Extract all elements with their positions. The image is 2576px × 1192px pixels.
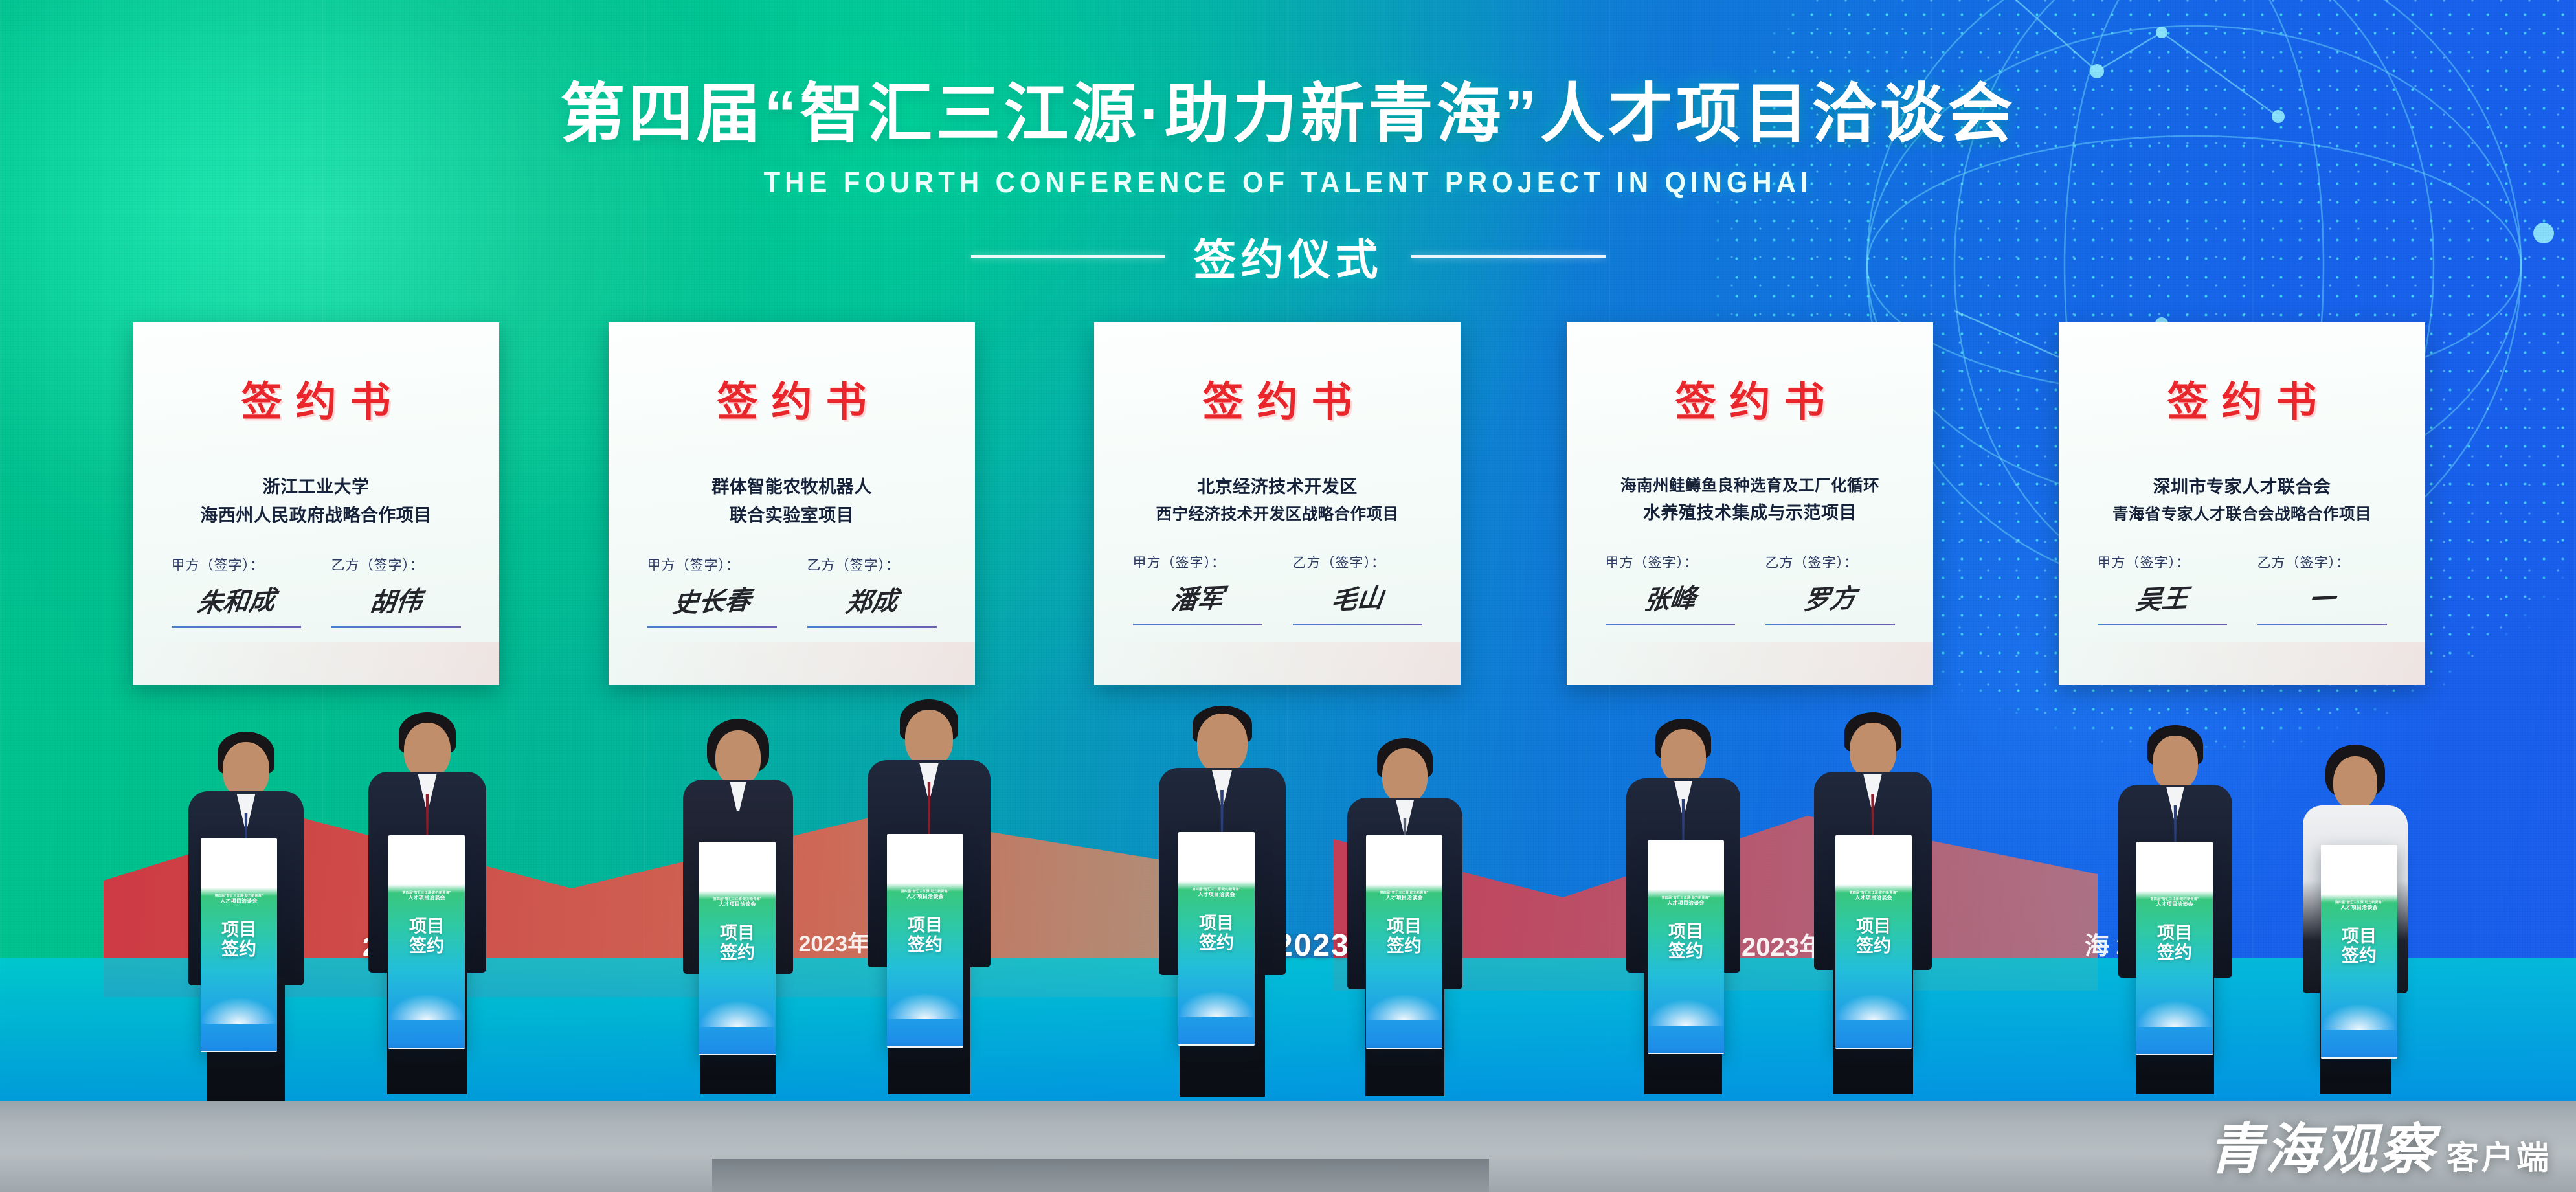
podium-snow-graphic (201, 998, 277, 1024)
podium-brand-tiny: 第四届“智汇三江源·助力新青海” (1648, 896, 1724, 900)
party-b-signature: 一 (2254, 569, 2390, 625)
head (715, 730, 761, 785)
head (223, 742, 269, 798)
party-b-signature: 郑成 (803, 572, 939, 628)
podium-base (2321, 1057, 2397, 1059)
head (1197, 714, 1248, 773)
podium-label-line-1: 项目 (1835, 917, 1912, 936)
photo-stage: 第四届“智汇三江源·助力新青海”人才项目洽谈会 THE FOURTH CONFE… (0, 0, 2576, 1192)
podium-snow-graphic (699, 1001, 776, 1027)
party-a-signature: 朱和成 (168, 572, 304, 628)
board-heading: 签约书 (609, 369, 975, 428)
podium-brand: 第四届“智汇三江源·助力新青海” 人才项目洽谈会 (388, 891, 465, 901)
head (404, 723, 451, 778)
podium-9: 第四届“智汇三江源·助力新青海” 人才项目洽谈会 项目 签约 (2136, 842, 2213, 1055)
podium-label: 项目 签约 (1835, 917, 1912, 956)
podium-snow-graphic (388, 995, 465, 1020)
board-foot (2059, 642, 2425, 685)
head (905, 710, 953, 767)
podium-brand: 第四届“智汇三江源·助力新青海” 人才项目洽谈会 (1178, 888, 1255, 898)
podium-brand-tiny: 第四届“智汇三江源·助力新青海” (2136, 897, 2213, 901)
podium-label: 项目 签约 (699, 923, 776, 962)
board-heading: 签约书 (133, 369, 499, 428)
signature-row: 甲方（签字）： 潘军 乙方（签字）： 毛山 (1094, 552, 1461, 625)
podium-brand-small: 人才项目洽谈会 (1198, 892, 1235, 897)
podium-label-line-2: 签约 (1648, 941, 1724, 961)
board-foot (609, 642, 975, 685)
podium-brand-small: 人才项目洽谈会 (906, 894, 943, 899)
podium-brand: 第四届“智汇三江源·助力新青海” 人才项目洽谈会 (699, 897, 776, 908)
podium-base (1178, 1044, 1255, 1046)
podium-6: 第四届“智汇三江源·助力新青海” 人才项目洽谈会 项目 签约 (1366, 835, 1442, 1049)
signing-board-2: 签约书 群体智能农牧机器人 联合实验室项目 甲方（签字）： 史长春 乙方（签字）… (609, 322, 975, 685)
podium-label-line-1: 项目 (2321, 927, 2397, 946)
party-a-signature: 吴王 (2094, 569, 2230, 625)
party-b-signature: 罗方 (1762, 569, 1898, 625)
podium-label-line-1: 项目 (201, 920, 277, 939)
signing-board-4: 签约书 海南州鲑鳟鱼良种选育及工厂化循环 水养殖技术集成与示范项目 甲方（签字）… (1567, 322, 1933, 685)
party-a-signature: 潘军 (1129, 569, 1265, 625)
board-foot (1567, 642, 1933, 685)
podium-label-line-2: 签约 (1178, 933, 1255, 952)
podium-10: 第四届“智汇三江源·助力新青海” 人才项目洽谈会 项目 签约 (2321, 845, 2397, 1059)
podium-label: 项目 签约 (887, 916, 963, 954)
podium-label: 项目 签约 (1178, 914, 1255, 952)
head (2153, 736, 2198, 790)
watermark-sub: 客户端 (2447, 1141, 2551, 1178)
rule-left (971, 255, 1165, 258)
floor-shadow (712, 1159, 1489, 1192)
podium-base (887, 1046, 963, 1048)
event-title-cn: 第四届“智汇三江源·助力新青海”人才项目洽谈会 (0, 79, 2576, 149)
party-a-column: 甲方（签字）： 张峰 (1606, 552, 1735, 625)
podium-label: 项目 签约 (201, 920, 277, 959)
podium-label-line-2: 签约 (201, 939, 277, 959)
party-a-label: 甲方（签字）： (1606, 552, 1735, 572)
podium-label: 项目 签约 (2136, 923, 2213, 962)
podium-brand-tiny: 第四届“智汇三江源·助力新青海” (388, 891, 465, 895)
board-foot (1094, 642, 1461, 685)
podium-5: 第四届“智汇三江源·助力新青海” 人才项目洽谈会 项目 签约 (1178, 832, 1255, 1046)
podium-brand-small: 人才项目洽谈会 (1855, 895, 1892, 901)
signing-board-1: 签约书 浙江工业大学 海西州人民政府战略合作项目 甲方（签字）： 朱和成 乙方（… (133, 322, 499, 685)
party-a-column: 甲方（签字）： 潘军 (1133, 552, 1262, 625)
podium-label-line-1: 项目 (1366, 917, 1442, 936)
podium-snow-graphic (2321, 1004, 2397, 1030)
podium-3: 第四届“智汇三江源·助力新青海” 人才项目洽谈会 项目 签约 (699, 842, 776, 1055)
podium-label-line-2: 签约 (2321, 946, 2397, 965)
party-b-column: 乙方（签字）： 毛山 (1293, 552, 1422, 625)
party-b-signature: 胡伟 (328, 572, 464, 628)
podium-brand-small: 人才项目洽谈会 (2340, 905, 2377, 910)
podium-base (1648, 1053, 1724, 1054)
party-b-column: 乙方（签字）： 郑成 (807, 555, 937, 628)
podium-snow-graphic (887, 993, 963, 1019)
board-heading: 签约书 (1567, 369, 1933, 428)
podium-brand: 第四届“智汇三江源·助力新青海” 人才项目洽谈会 (1648, 896, 1724, 906)
podium-brand-small: 人才项目洽谈会 (220, 898, 257, 904)
party-a-column: 甲方（签字）： 吴王 (2098, 552, 2227, 625)
podium-base (1835, 1048, 1912, 1049)
podium-base (1366, 1048, 1442, 1049)
signature-row: 甲方（签字）： 朱和成 乙方（签字）： 胡伟 (133, 555, 499, 628)
party-b-column: 乙方（签字）： 罗方 (1765, 552, 1895, 625)
board-project-line-1: 海南州鲑鳟鱼良种选育及工厂化循环 (1567, 475, 1933, 498)
party-b-label: 乙方（签字）： (1765, 552, 1895, 572)
board-project-line-2: 西宁经济技术开发区战略合作项目 (1094, 503, 1461, 526)
podium-label: 项目 签约 (1366, 917, 1442, 956)
podium-brand-small: 人才项目洽谈会 (719, 901, 756, 907)
board-project-line-2: 海西州人民政府战略合作项目 (133, 503, 499, 529)
party-a-signature: 史长春 (644, 572, 779, 628)
event-subtitle-cn: 签约仪式 (1194, 225, 1383, 287)
board-project-line-1: 群体智能农牧机器人 (609, 475, 975, 500)
party-b-label: 乙方（签字）： (807, 555, 937, 574)
signature-row: 甲方（签字）： 吴王 乙方（签字）： 一 (2059, 552, 2425, 625)
podium-label-line-1: 项目 (887, 916, 963, 935)
party-b-column: 乙方（签字）： 胡伟 (331, 555, 461, 628)
podium-label-line-2: 签约 (699, 943, 776, 962)
podium-label: 项目 签约 (388, 917, 465, 956)
podium-brand: 第四届“智汇三江源·助力新青海” 人才项目洽谈会 (887, 890, 963, 900)
podium-base (699, 1054, 776, 1055)
head (2333, 756, 2377, 809)
signing-board-3: 签约书 北京经济技术开发区 西宁经济技术开发区战略合作项目 甲方（签字）： 潘军… (1094, 322, 1461, 685)
podium-base (2136, 1054, 2213, 1055)
podium-brand: 第四届“智汇三江源·助力新青海” 人才项目洽谈会 (2321, 901, 2397, 911)
podium-snow-graphic (1835, 995, 1912, 1020)
party-a-label: 甲方（签字）： (172, 555, 301, 574)
watermark-logo: 青海观察 客户端 (2208, 1123, 2551, 1178)
podium-1: 第四届“智汇三江源·助力新青海” 人才项目洽谈会 项目 签约 (201, 838, 277, 1052)
head (1850, 723, 1896, 778)
podium-label: 项目 签约 (1648, 922, 1724, 961)
podium-brand-small: 人才项目洽谈会 (1667, 900, 1704, 906)
podium-label-line-2: 签约 (388, 936, 465, 956)
party-b-column: 乙方（签字）： 一 (2257, 552, 2387, 625)
podium-base (201, 1051, 277, 1052)
party-b-label: 乙方（签字）： (331, 555, 461, 574)
podium-8: 第四届“智汇三江源·助力新青海” 人才项目洽谈会 项目 签约 (1835, 835, 1912, 1049)
podium-label-line-1: 项目 (388, 917, 465, 936)
podium-label-line-1: 项目 (1178, 914, 1255, 933)
podium-brand: 第四届“智汇三江源·助力新青海” 人才项目洽谈会 (1835, 891, 1912, 901)
board-project-line-1: 浙江工业大学 (133, 475, 499, 500)
party-a-label: 甲方（签字）： (2098, 552, 2227, 572)
signing-board-5: 签约书 深圳市专家人才联合会 青海省专家人才联合会战略合作项目 甲方（签字）： … (2059, 322, 2425, 685)
podium-brand-small: 人才项目洽谈会 (1385, 895, 1422, 901)
podium-brand-tiny: 第四届“智汇三江源·助力新青海” (1178, 888, 1255, 892)
board-heading: 签约书 (2059, 369, 2425, 428)
podium-brand-tiny: 第四届“智汇三江源·助力新青海” (201, 894, 277, 898)
watermark-brand: 青海观察 (2208, 1123, 2436, 1178)
podium-label-line-1: 项目 (1648, 922, 1724, 941)
podium-brand: 第四届“智汇三江源·助力新青海” 人才项目洽谈会 (201, 894, 277, 905)
podium-snow-graphic (1648, 1000, 1724, 1026)
head (1382, 748, 1428, 803)
podium-brand: 第四届“智汇三江源·助力新青海” 人才项目洽谈会 (2136, 897, 2213, 908)
podium-brand-tiny: 第四届“智汇三江源·助力新青海” (1835, 891, 1912, 895)
podium-snow-graphic (2136, 1001, 2213, 1027)
podium-label-line-2: 签约 (887, 935, 963, 954)
board-foot (133, 642, 499, 685)
podium-snow-graphic (1178, 991, 1255, 1017)
podium-2: 第四届“智汇三江源·助力新青海” 人才项目洽谈会 项目 签约 (388, 835, 465, 1049)
rule-right (1411, 255, 1606, 258)
board-project-line-2: 水养殖技术集成与示范项目 (1567, 500, 1933, 526)
board-project-line-1: 北京经济技术开发区 (1094, 475, 1461, 500)
subtitle-row: 签约仪式 (0, 225, 2576, 287)
podium-label-line-1: 项目 (2136, 923, 2213, 943)
podium-7: 第四届“智汇三江源·助力新青海” 人才项目洽谈会 项目 签约 (1648, 840, 1724, 1054)
podium-brand-tiny: 第四届“智汇三江源·助力新青海” (887, 890, 963, 894)
party-b-label: 乙方（签字）： (2257, 552, 2387, 572)
board-project-line-2: 联合实验室项目 (609, 503, 975, 529)
podium-brand-tiny: 第四届“智汇三江源·助力新青海” (1366, 891, 1442, 895)
podium-label-line-2: 签约 (1835, 936, 1912, 956)
signature-row: 甲方（签字）： 史长春 乙方（签字）： 郑成 (609, 555, 975, 628)
podium-brand-small: 人才项目洽谈会 (2156, 901, 2193, 907)
party-a-signature: 张峰 (1602, 569, 1738, 625)
podium-base (388, 1048, 465, 1049)
podium-brand-small: 人才项目洽谈会 (408, 895, 445, 901)
podium-label-line-2: 签约 (1366, 936, 1442, 956)
podium-brand-tiny: 第四届“智汇三江源·助力新青海” (2321, 901, 2397, 905)
board-heading: 签约书 (1094, 369, 1461, 428)
podium-label: 项目 签约 (2321, 927, 2397, 965)
podium-snow-graphic (1366, 995, 1442, 1020)
board-project-line-1: 深圳市专家人才联合会 (2059, 475, 2425, 500)
board-project-line-2: 青海省专家人才联合会战略合作项目 (2059, 503, 2425, 526)
title-block: 第四届“智汇三江源·助力新青海”人才项目洽谈会 THE FOURTH CONFE… (0, 0, 2576, 287)
party-a-column: 甲方（签字）： 朱和成 (172, 555, 301, 628)
head (1661, 729, 1706, 783)
event-title-en: THE FOURTH CONFERENCE OF TALENT PROJECT … (90, 166, 2485, 199)
podium-4: 第四届“智汇三江源·助力新青海” 人才项目洽谈会 项目 签约 (887, 834, 963, 1048)
podium-brand: 第四届“智汇三江源·助力新青海” 人才项目洽谈会 (1366, 891, 1442, 901)
party-a-column: 甲方（签字）： 史长春 (647, 555, 777, 628)
podium-label-line-2: 签约 (2136, 943, 2213, 962)
party-a-label: 甲方（签字）： (647, 555, 777, 574)
signature-row: 甲方（签字）： 张峰 乙方（签字）： 罗方 (1567, 552, 1933, 625)
podium-brand-tiny: 第四届“智汇三江源·助力新青海” (699, 897, 776, 901)
podium-label-line-1: 项目 (699, 923, 776, 943)
party-a-label: 甲方（签字）： (1133, 552, 1262, 572)
party-b-signature: 毛山 (1289, 569, 1425, 625)
party-b-label: 乙方（签字）： (1293, 552, 1422, 572)
